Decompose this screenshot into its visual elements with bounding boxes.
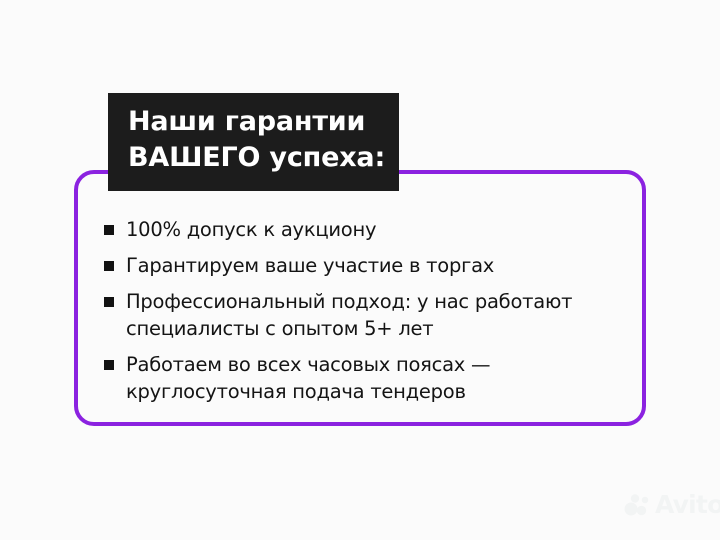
bullet-square-icon xyxy=(104,261,114,271)
benefit-text: Профессиональный подход: у нас работают … xyxy=(126,288,596,342)
bullet-square-icon xyxy=(104,297,114,307)
avito-watermark: Avito xyxy=(624,492,720,517)
benefit-text: Работаем во всех часовых поясах — кругло… xyxy=(126,351,596,405)
list-item: 100% допуск к аукциону xyxy=(104,216,624,243)
benefit-text: 100% допуск к аукциону xyxy=(126,216,376,243)
avito-wordmark: Avito xyxy=(655,492,720,517)
bullet-square-icon xyxy=(104,360,114,370)
avito-logo-icon xyxy=(624,494,650,516)
title-badge: Наши гарантии ВАШЕГО успеха: xyxy=(108,93,399,191)
list-item: Работаем во всех часовых поясах — кругло… xyxy=(104,351,624,405)
bullet-square-icon xyxy=(104,225,114,235)
list-item: Гарантируем ваше участие в торгах xyxy=(104,252,624,279)
title-line-1: Наши гарантии xyxy=(128,104,379,140)
title-line-2: ВАШЕГО успеха: xyxy=(128,140,379,176)
benefit-text: Гарантируем ваше участие в торгах xyxy=(126,252,494,279)
list-item: Профессиональный подход: у нас работают … xyxy=(104,288,624,342)
benefits-list: 100% допуск к аукциону Гарантируем ваше … xyxy=(104,216,624,414)
